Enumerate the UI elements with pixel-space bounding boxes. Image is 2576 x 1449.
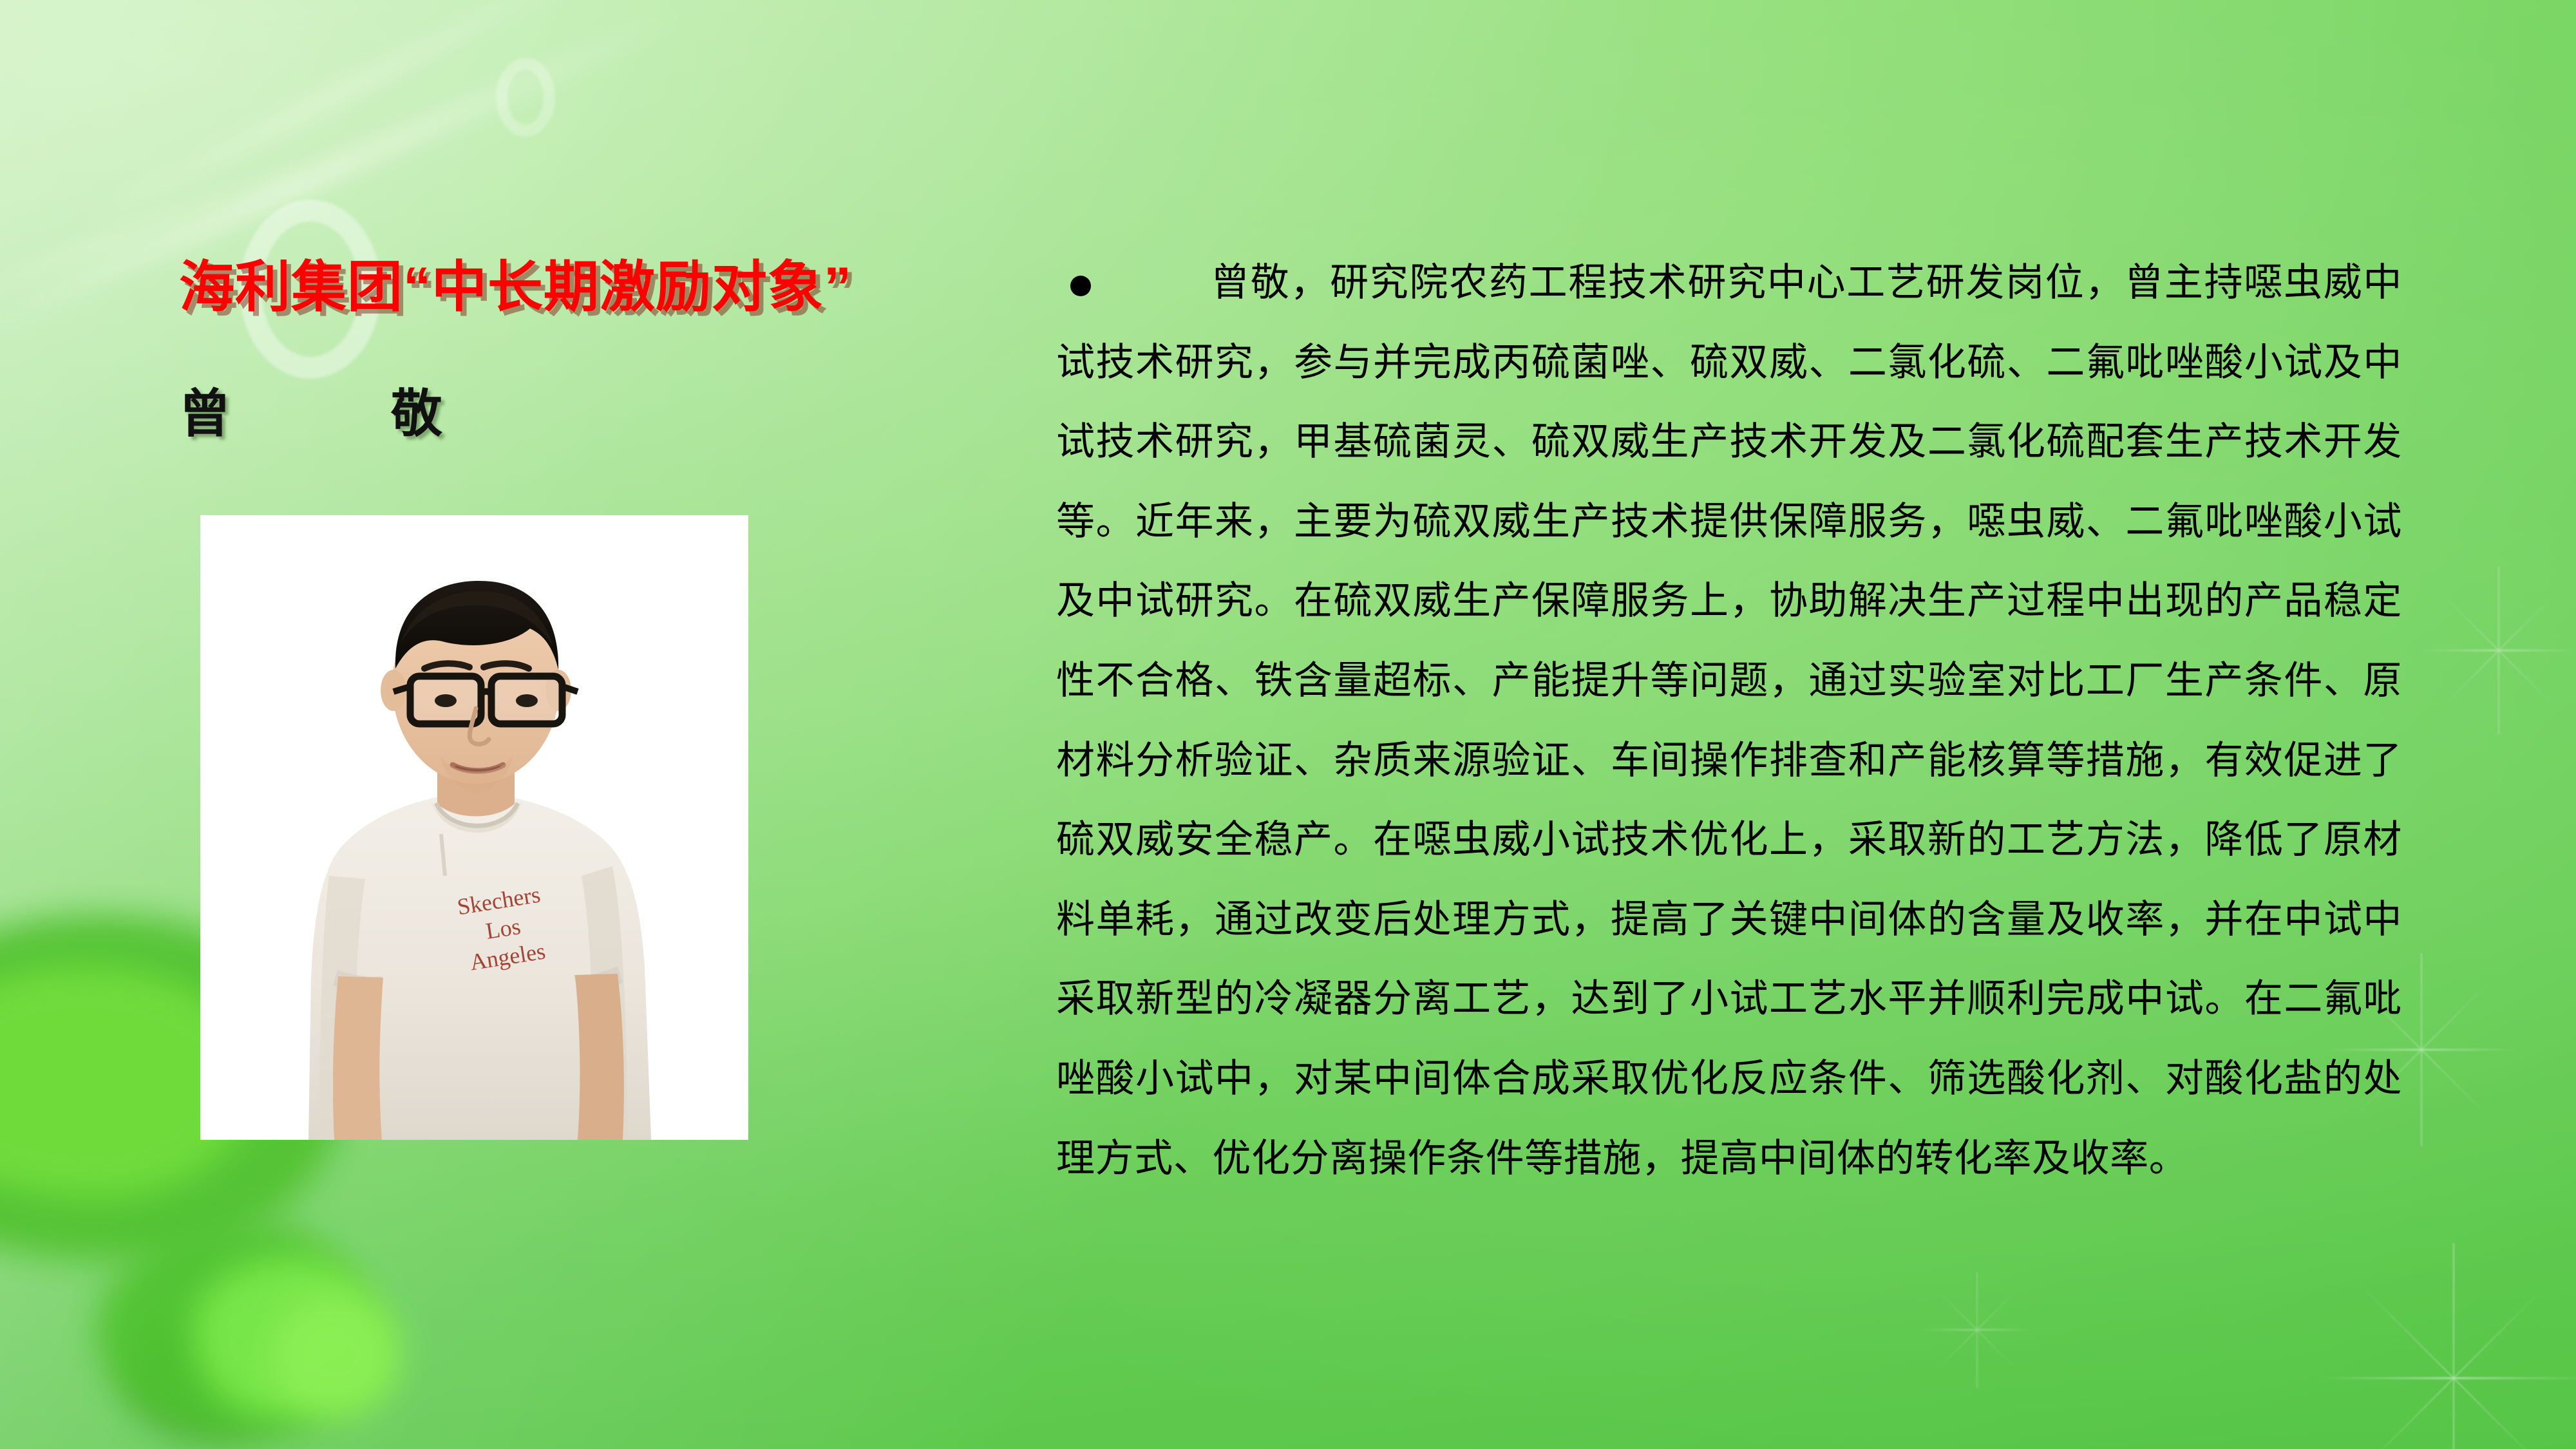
- person-name: 曾 敬: [179, 372, 463, 447]
- right-arm: [575, 974, 624, 1140]
- body-text-block: 曾敬，研究院农药工程技术研究中心工艺研发岗位，曾主持噁虫威中试技术研究，参与并完…: [1056, 243, 2402, 1198]
- shirt-print-line-2: Los: [484, 913, 523, 944]
- portrait-photo: Skechers Los Angeles: [200, 515, 748, 1140]
- bullet-icon: [1070, 276, 1091, 296]
- left-column: 海利集团“中长期激励对象” 曾 敬: [0, 0, 1005, 1449]
- biography-paragraph: 曾敬，研究院农药工程技术研究中心工艺研发岗位，曾主持噁虫威中试技术研究，参与并完…: [1056, 243, 2402, 1198]
- presentation-slide: 海利集团“中长期激励对象” 曾 敬: [0, 0, 2576, 1449]
- slide-title: 海利集团“中长期激励对象”: [179, 258, 984, 317]
- portrait-illustration: Skechers Los Angeles: [200, 515, 748, 1140]
- left-arm: [333, 976, 383, 1140]
